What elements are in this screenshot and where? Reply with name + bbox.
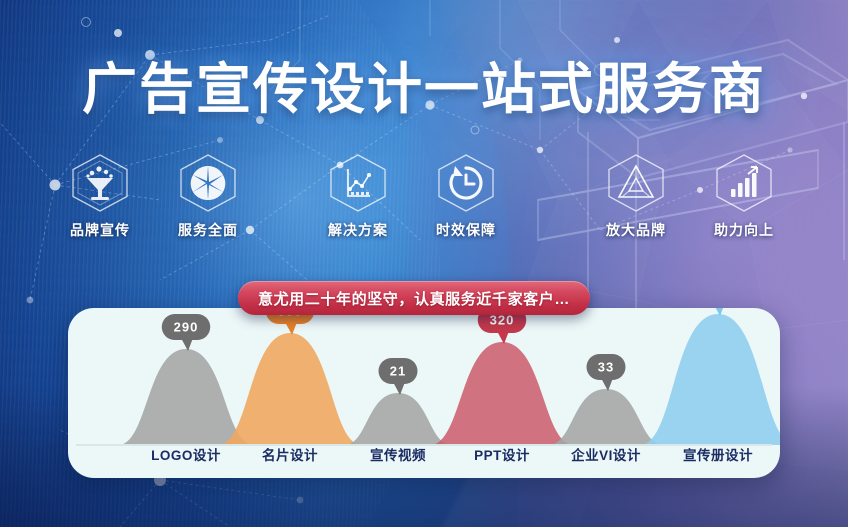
category-label: 宣传视频 bbox=[338, 444, 458, 464]
category-label: 企业VI设计 bbox=[546, 444, 666, 464]
hill-PPT设计 bbox=[430, 342, 574, 445]
value-bubble-LOGO设计: 290 bbox=[162, 314, 211, 351]
chart-card: 2903502132033560 LOGO设计名片设计宣传视频PPT设计企业VI… bbox=[68, 308, 780, 478]
triangle-icon bbox=[604, 152, 668, 214]
hill-企业VI设计 bbox=[548, 389, 664, 445]
category-label-row: LOGO设计名片设计宣传视频PPT设计企业VI设计宣传册设计 bbox=[68, 444, 780, 468]
value-bubble-宣传视频: 21 bbox=[379, 358, 418, 395]
feature-item-timeliness[interactable]: 时效保障 bbox=[414, 152, 518, 240]
feature-label: 放大品牌 bbox=[584, 220, 688, 240]
aperture-icon bbox=[176, 152, 240, 214]
value-bubble-企业VI设计: 33 bbox=[587, 354, 626, 391]
trophy-funnel-icon bbox=[68, 152, 132, 214]
category-label: 宣传册设计 bbox=[658, 444, 778, 464]
feature-label: 时效保障 bbox=[414, 220, 518, 240]
feature-label: 服务全面 bbox=[156, 220, 260, 240]
feature-item-brand[interactable]: 品牌宣传 bbox=[48, 152, 152, 240]
feature-label: 解决方案 bbox=[306, 220, 410, 240]
hill-宣传视频 bbox=[344, 393, 452, 445]
bar-chart-arrow-icon bbox=[712, 152, 776, 214]
hill-LOGO设计 bbox=[118, 349, 254, 445]
value-text: 21 bbox=[390, 364, 406, 379]
clock-history-icon bbox=[434, 152, 498, 214]
feature-icon-row: 品牌宣传 服务全面 bbox=[0, 152, 848, 252]
category-label: 名片设计 bbox=[230, 444, 350, 464]
category-label: LOGO设计 bbox=[126, 444, 246, 464]
poster-canvas: 广告宣传设计一站式服务商 品牌宣传 bbox=[0, 0, 848, 527]
feature-item-service[interactable]: 服务全面 bbox=[156, 152, 260, 240]
slogan-banner: 意尤用二十年的坚守，认真服务近千家客户… bbox=[238, 281, 590, 315]
feature-label: 品牌宣传 bbox=[48, 220, 152, 240]
category-label: PPT设计 bbox=[442, 444, 562, 464]
feature-item-amplify[interactable]: 放大品牌 bbox=[584, 152, 688, 240]
value-text: 33 bbox=[598, 360, 614, 375]
feature-label: 助力向上 bbox=[692, 220, 796, 240]
line-chart-icon bbox=[326, 152, 390, 214]
slogan-text: 意尤用二十年的坚守，认真服务近千家客户… bbox=[258, 288, 570, 309]
feature-item-solution[interactable]: 解决方案 bbox=[306, 152, 410, 240]
feature-item-growth[interactable]: 助力向上 bbox=[692, 152, 796, 240]
page-title: 广告宣传设计一站式服务商 bbox=[0, 58, 848, 120]
hill-宣传册设计 bbox=[640, 314, 780, 445]
value-text: 290 bbox=[174, 320, 199, 335]
hill-名片设计 bbox=[218, 333, 362, 445]
